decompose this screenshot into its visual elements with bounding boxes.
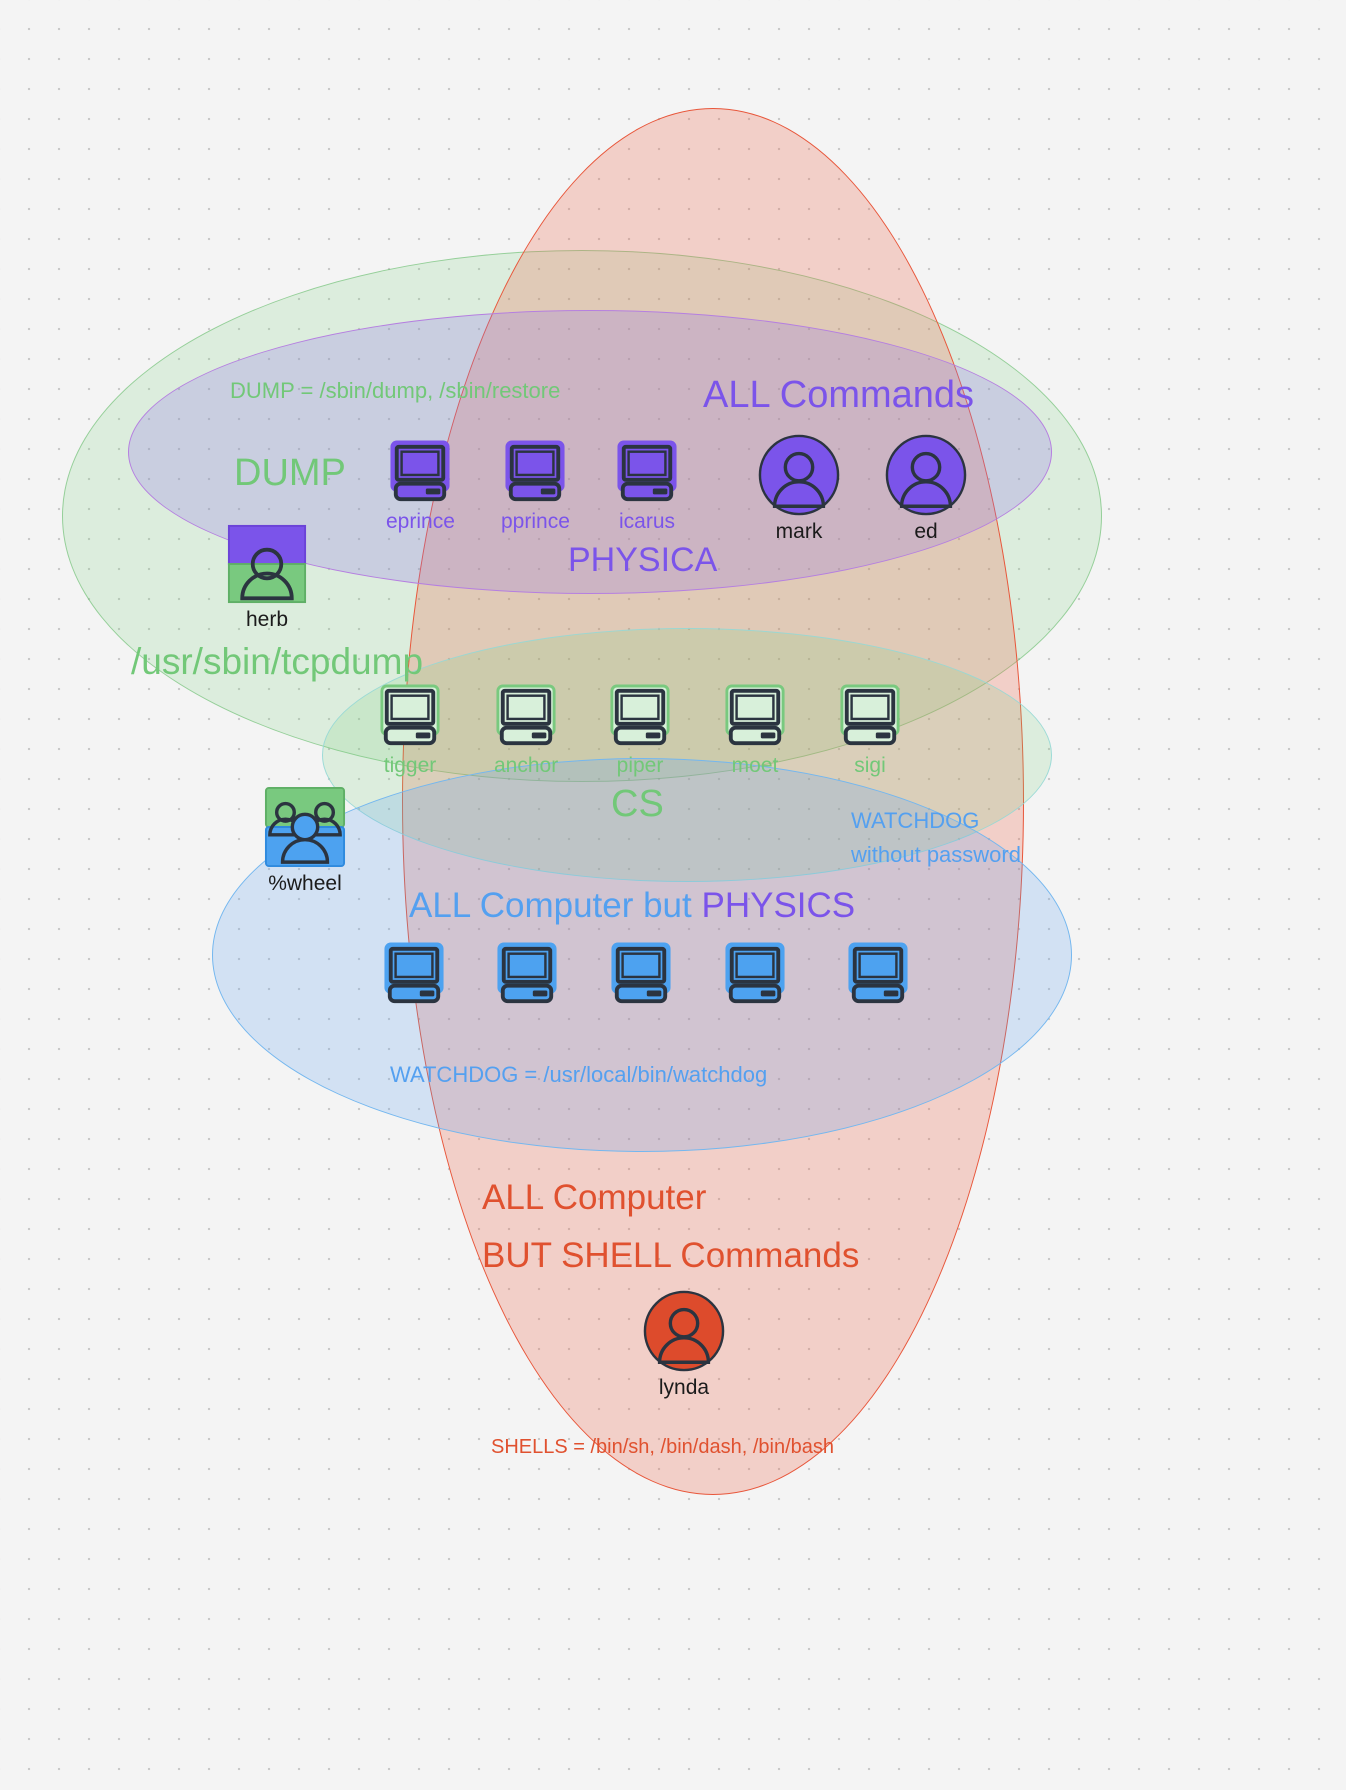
- host-blue-1[interactable]: [383, 942, 445, 1013]
- host-blue-2[interactable]: [496, 942, 558, 1013]
- user-lynda[interactable]: lynda: [643, 1290, 725, 1398]
- host-eprince[interactable]: eprince: [386, 440, 455, 532]
- tcpdump-path-label: /usr/sbin/tcpdump: [131, 641, 423, 683]
- monitor-icon: [724, 684, 786, 750]
- host-moet[interactable]: moet: [724, 684, 786, 776]
- host-label: eprince: [386, 511, 455, 532]
- cs-label: CS: [611, 783, 664, 826]
- user-ed[interactable]: ed: [885, 434, 967, 542]
- host-icarus[interactable]: icarus: [616, 440, 678, 532]
- user-group-icon: [264, 786, 346, 868]
- host-label: anchor: [494, 755, 558, 776]
- group-wheel[interactable]: %wheel: [264, 786, 346, 894]
- host-label: pprince: [501, 511, 570, 532]
- monitor-icon: [496, 942, 558, 1008]
- monitor-icon: [616, 440, 678, 506]
- watchdog-label: WATCHDOG: [851, 808, 979, 834]
- all-computer-but-text: ALL Computer but: [409, 886, 701, 925]
- physics-text: PHYSICS: [701, 886, 855, 925]
- venn-diagram-stage: DUMP = /sbin/dump, /sbin/restore DUMP AL…: [0, 0, 1346, 1790]
- user-label: lynda: [659, 1377, 709, 1398]
- monitor-icon: [379, 684, 441, 750]
- monitor-icon: [839, 684, 901, 750]
- host-label: piper: [617, 755, 664, 776]
- user-avatar-icon: [885, 434, 967, 516]
- user-mark[interactable]: mark: [758, 434, 840, 542]
- host-label: sigi: [854, 755, 886, 776]
- host-tigger[interactable]: tigger: [379, 684, 441, 776]
- monitor-icon: [847, 942, 909, 1008]
- monitor-icon: [504, 440, 566, 506]
- watchdog-definition-label: WATCHDOG = /usr/local/bin/watchdog: [390, 1062, 767, 1088]
- user-avatar-icon: [643, 1290, 725, 1372]
- all-computer-red-line2: BUT SHELL Commands: [482, 1236, 859, 1276]
- user-avatar-icon: [758, 434, 840, 516]
- all-computer-but-physics-label: ALL Computer but PHYSICS: [409, 886, 855, 926]
- all-commands-label: ALL Commands: [703, 374, 974, 417]
- without-password-label: without password: [851, 842, 1021, 868]
- monitor-icon: [495, 684, 557, 750]
- user-label: ed: [914, 521, 937, 542]
- host-blue-5[interactable]: [847, 942, 909, 1013]
- host-sigi[interactable]: sigi: [839, 684, 901, 776]
- host-blue-3[interactable]: [610, 942, 672, 1013]
- host-pprince[interactable]: pprince: [501, 440, 570, 532]
- monitor-icon: [724, 942, 786, 1008]
- dump-label: DUMP: [234, 452, 346, 495]
- monitor-icon: [389, 440, 451, 506]
- host-label: icarus: [619, 511, 675, 532]
- host-blue-4[interactable]: [724, 942, 786, 1013]
- monitor-icon: [610, 942, 672, 1008]
- host-piper[interactable]: piper: [609, 684, 671, 776]
- host-label: moet: [732, 755, 779, 776]
- group-label: %wheel: [268, 873, 342, 894]
- user-label: herb: [246, 609, 288, 630]
- shells-definition-label: SHELLS = /bin/sh, /bin/dash, /bin/bash: [491, 1436, 834, 1459]
- physica-label: PHYSICA: [568, 541, 717, 580]
- user-herb[interactable]: herb: [227, 524, 307, 630]
- user-square-icon: [227, 524, 307, 604]
- monitor-icon: [609, 684, 671, 750]
- monitor-icon: [383, 942, 445, 1008]
- user-label: mark: [776, 521, 823, 542]
- all-computer-red-line1: ALL Computer: [482, 1178, 706, 1218]
- dump-definition-label: DUMP = /sbin/dump, /sbin/restore: [230, 378, 560, 404]
- host-label: tigger: [384, 755, 437, 776]
- host-anchor[interactable]: anchor: [494, 684, 558, 776]
